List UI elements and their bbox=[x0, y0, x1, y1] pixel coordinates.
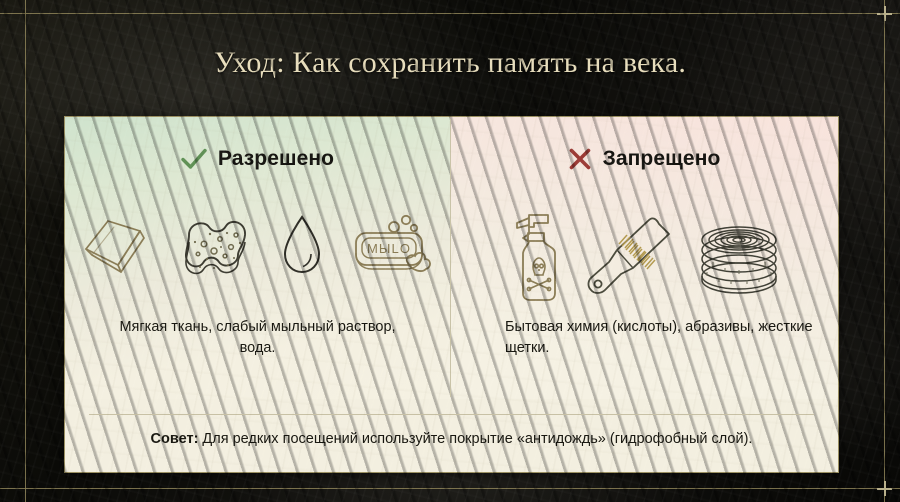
corner-plus-icon-top-right bbox=[877, 6, 892, 21]
panel-allowed-header: Разрешено bbox=[65, 147, 450, 171]
check-icon bbox=[181, 147, 207, 171]
panel-allowed-heading: Разрешено bbox=[218, 147, 334, 171]
tip-row: Совет: Для редких посещений используйте … bbox=[65, 429, 838, 449]
tip-divider bbox=[89, 414, 814, 415]
page-title: Уход: Как сохранить память на века. bbox=[0, 46, 900, 80]
panel-forbidden-header: Запрещено bbox=[450, 147, 838, 171]
tip-label: Совет: bbox=[151, 431, 199, 447]
panel-forbidden-heading: Запрещено bbox=[603, 147, 721, 171]
wire-brush-icon bbox=[581, 214, 677, 300]
cross-icon bbox=[568, 147, 592, 171]
panel-forbidden-icons bbox=[450, 209, 838, 305]
comparison-panels: Разрешено bbox=[65, 117, 838, 399]
water-drop-icon bbox=[278, 209, 326, 281]
spray-bottle-poison-icon bbox=[503, 209, 565, 305]
soap-bar-label: МЫLO bbox=[366, 241, 410, 256]
soap-bar-icon: МЫLO bbox=[348, 209, 438, 281]
frame-line-bottom bbox=[0, 488, 900, 489]
panel-allowed-caption: Мягкая ткань, слабый мыльный раствор, во… bbox=[65, 317, 450, 358]
panel-allowed: Разрешено bbox=[65, 117, 450, 399]
comparison-card: Разрешено bbox=[64, 116, 839, 473]
tip-text: Для редких посещений используйте покрыти… bbox=[198, 431, 752, 447]
slide-background: Уход: Как сохранить память на века. Разр… bbox=[0, 0, 900, 502]
abrasive-pads-icon bbox=[693, 214, 785, 300]
sponge-icon bbox=[176, 209, 256, 281]
corner-plus-icon-bottom-right bbox=[877, 481, 892, 496]
panel-forbidden: Запрещено bbox=[450, 117, 838, 399]
panel-forbidden-caption: Бытовая химия (кислоты), абразивы, жестк… bbox=[450, 317, 838, 358]
frame-line-top bbox=[0, 13, 900, 14]
cloth-icon bbox=[78, 209, 154, 281]
panel-divider bbox=[450, 119, 451, 397]
panel-allowed-icons: МЫLO bbox=[65, 209, 450, 281]
